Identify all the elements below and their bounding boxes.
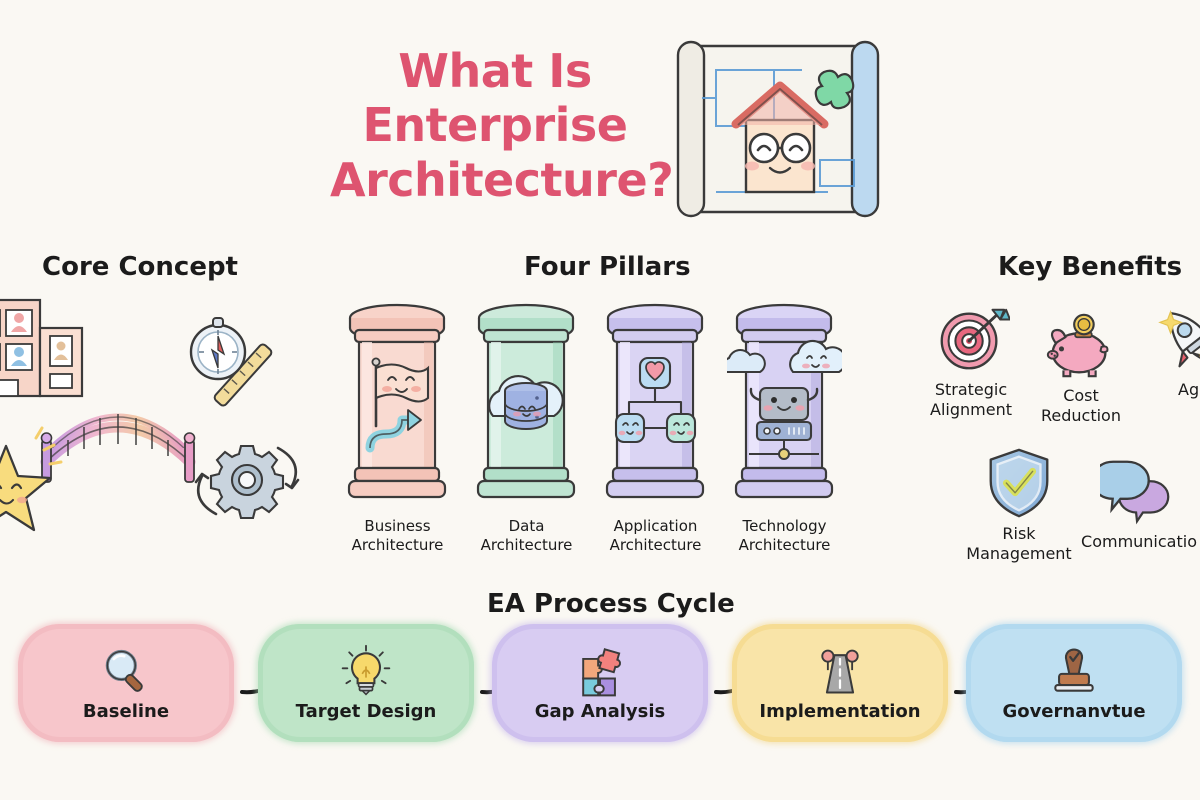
rubber-stamp-icon [1046, 644, 1102, 700]
benefit-label: Cost Reduction [1041, 386, 1121, 425]
benefit-label: Agil [1178, 380, 1200, 400]
puzzle-pieces-icon [572, 644, 628, 700]
section-heading-key-benefits: Key Benefits [998, 252, 1182, 282]
benefit-label: Risk Management [966, 524, 1071, 563]
benefit-agility: Agil [1137, 300, 1200, 400]
benefit-strategic-alignment: Strategic Alignment [915, 300, 1027, 419]
office-building-people-icon [0, 300, 82, 396]
pillar-label: Application Architecture [610, 517, 702, 555]
section-heading-core-concept: Core Concept [42, 252, 238, 282]
flag-arrow-icon [340, 296, 455, 511]
pillar-label: Data Architecture [481, 517, 573, 555]
title-line-2: Enterprise [330, 98, 660, 152]
pillar-label: Business Architecture [352, 517, 444, 555]
title-line-3: Architecture? [330, 153, 660, 207]
infographic-canvas: What Is Enterprise Architecture? [0, 0, 1200, 800]
cycle-step-gap-analysis[interactable]: Gap Analysis [492, 624, 708, 742]
piggy-bank-coin-icon [1042, 306, 1120, 384]
bridge-icon [42, 414, 195, 482]
speech-bubbles-icon [1100, 452, 1178, 530]
pillar-application-architecture: Application Architecture [598, 296, 713, 555]
benefit-cost-reduction: Cost Reduction [1025, 306, 1137, 425]
core-concept-illustration [0, 280, 320, 540]
gear-cycle-icon [196, 446, 298, 518]
lightbulb-icon [338, 644, 394, 700]
cycle-step-label: Governanvtue [1002, 701, 1145, 722]
page-title: What Is Enterprise Architecture? [330, 44, 660, 207]
pillar-label: Technology Architecture [739, 517, 831, 555]
pillar-data-architecture: Data Architecture [469, 296, 584, 555]
compass-ruler-icon [191, 318, 273, 407]
benefit-label: Strategic Alignment [930, 380, 1012, 419]
benefit-risk-management: Risk Management [963, 444, 1075, 563]
server-robot-cloud-icon [727, 296, 842, 511]
pillar-technology-architecture: Technology Architecture [727, 296, 842, 555]
pillar-business-architecture: Business Architecture [340, 296, 455, 555]
cloud-database-icon [469, 296, 584, 511]
ea-process-cycle: Baseline Target Design [0, 624, 1200, 754]
magnifying-glass-icon [98, 644, 154, 700]
cycle-step-governance[interactable]: Governanvtue [966, 624, 1182, 742]
key-benefits-grid: Strategic Alignment Cost Reduction [915, 296, 1200, 566]
four-pillars-row: Business Architecture [340, 296, 842, 555]
cycle-step-label: Gap Analysis [535, 701, 665, 722]
cycle-step-baseline[interactable]: Baseline [18, 624, 234, 742]
rocket-sparkle-icon [1154, 300, 1200, 378]
section-heading-four-pillars: Four Pillars [524, 252, 691, 282]
road-flags-icon [812, 644, 868, 700]
cycle-step-label: Target Design [296, 701, 437, 722]
blueprint-scroll-house-puzzle-icon [668, 28, 888, 233]
section-heading-ea-process-cycle: EA Process Cycle [487, 589, 735, 619]
cycle-step-target-design[interactable]: Target Design [258, 624, 474, 742]
app-node-tree-heart-icon [598, 296, 713, 511]
shield-check-icon [980, 444, 1058, 522]
cycle-step-label: Implementation [759, 701, 920, 722]
target-dart-icon [932, 300, 1010, 378]
title-line-1: What Is [330, 44, 660, 98]
benefit-communication: Communicatio [1083, 452, 1195, 552]
benefit-label: Communicatio [1081, 532, 1197, 552]
cycle-step-label: Baseline [83, 701, 169, 722]
cycle-step-implementation[interactable]: Implementation [732, 624, 948, 742]
